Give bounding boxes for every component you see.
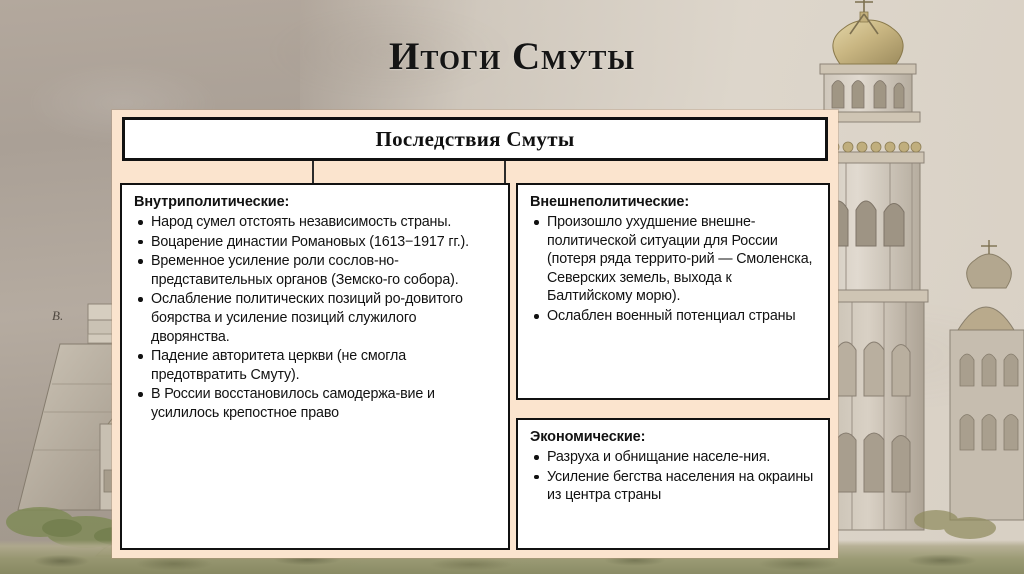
list-item: Падение авторитета церкви (не смогла пре… — [134, 347, 498, 384]
list-item: Ослаблен военный потенциал страны — [530, 307, 818, 326]
card-internal-heading: Внутриполитические: — [134, 194, 498, 211]
list-item: В России восстановилось самодержа-вие и … — [134, 385, 498, 422]
card-internal-list: Народ сумел отстоять независимость стран… — [134, 213, 498, 422]
card-economic-list: Разруха и обнищание населе-ния. Усиление… — [530, 448, 818, 505]
list-item: Временное усиление роли сослов-но-предст… — [134, 252, 498, 289]
page-title: Итоги Смуты — [0, 34, 1024, 79]
list-item: Народ сумел отстоять независимость стран… — [134, 213, 498, 232]
card-external-list: Произошло ухудшение внешне-политической … — [530, 213, 818, 325]
list-item: Разруха и обнищание населе-ния. — [530, 448, 818, 467]
slide-canvas: C. — [0, 0, 1024, 574]
diagram-header-box: Последствия Смуты — [122, 117, 828, 161]
card-economic-heading: Экономические: — [530, 429, 818, 446]
diagram-panel: Последствия Смуты Внутриполитические: На… — [112, 110, 838, 558]
artwork-label-left: B. — [52, 308, 63, 323]
list-item: Усиление бегства населения на окраины из… — [530, 468, 818, 505]
connector-line-left — [312, 161, 314, 183]
card-external-heading: Внешнеполитические: — [530, 194, 818, 211]
card-economic: Экономические: Разруха и обнищание насел… — [516, 418, 830, 550]
list-item: Произошло ухудшение внешне-политической … — [530, 213, 818, 306]
diagram-header-label: Последствия Смуты — [375, 127, 574, 152]
list-item: Воцарение династии Романовых (1613−1917 … — [134, 233, 498, 252]
connector-line-right — [504, 161, 506, 183]
card-external-political: Внешнеполитические: Произошло ухудшение … — [516, 183, 830, 400]
list-item: Ослабление политических позиций ро-довит… — [134, 290, 498, 346]
card-internal-political: Внутриполитические: Народ сумел отстоять… — [120, 183, 510, 550]
